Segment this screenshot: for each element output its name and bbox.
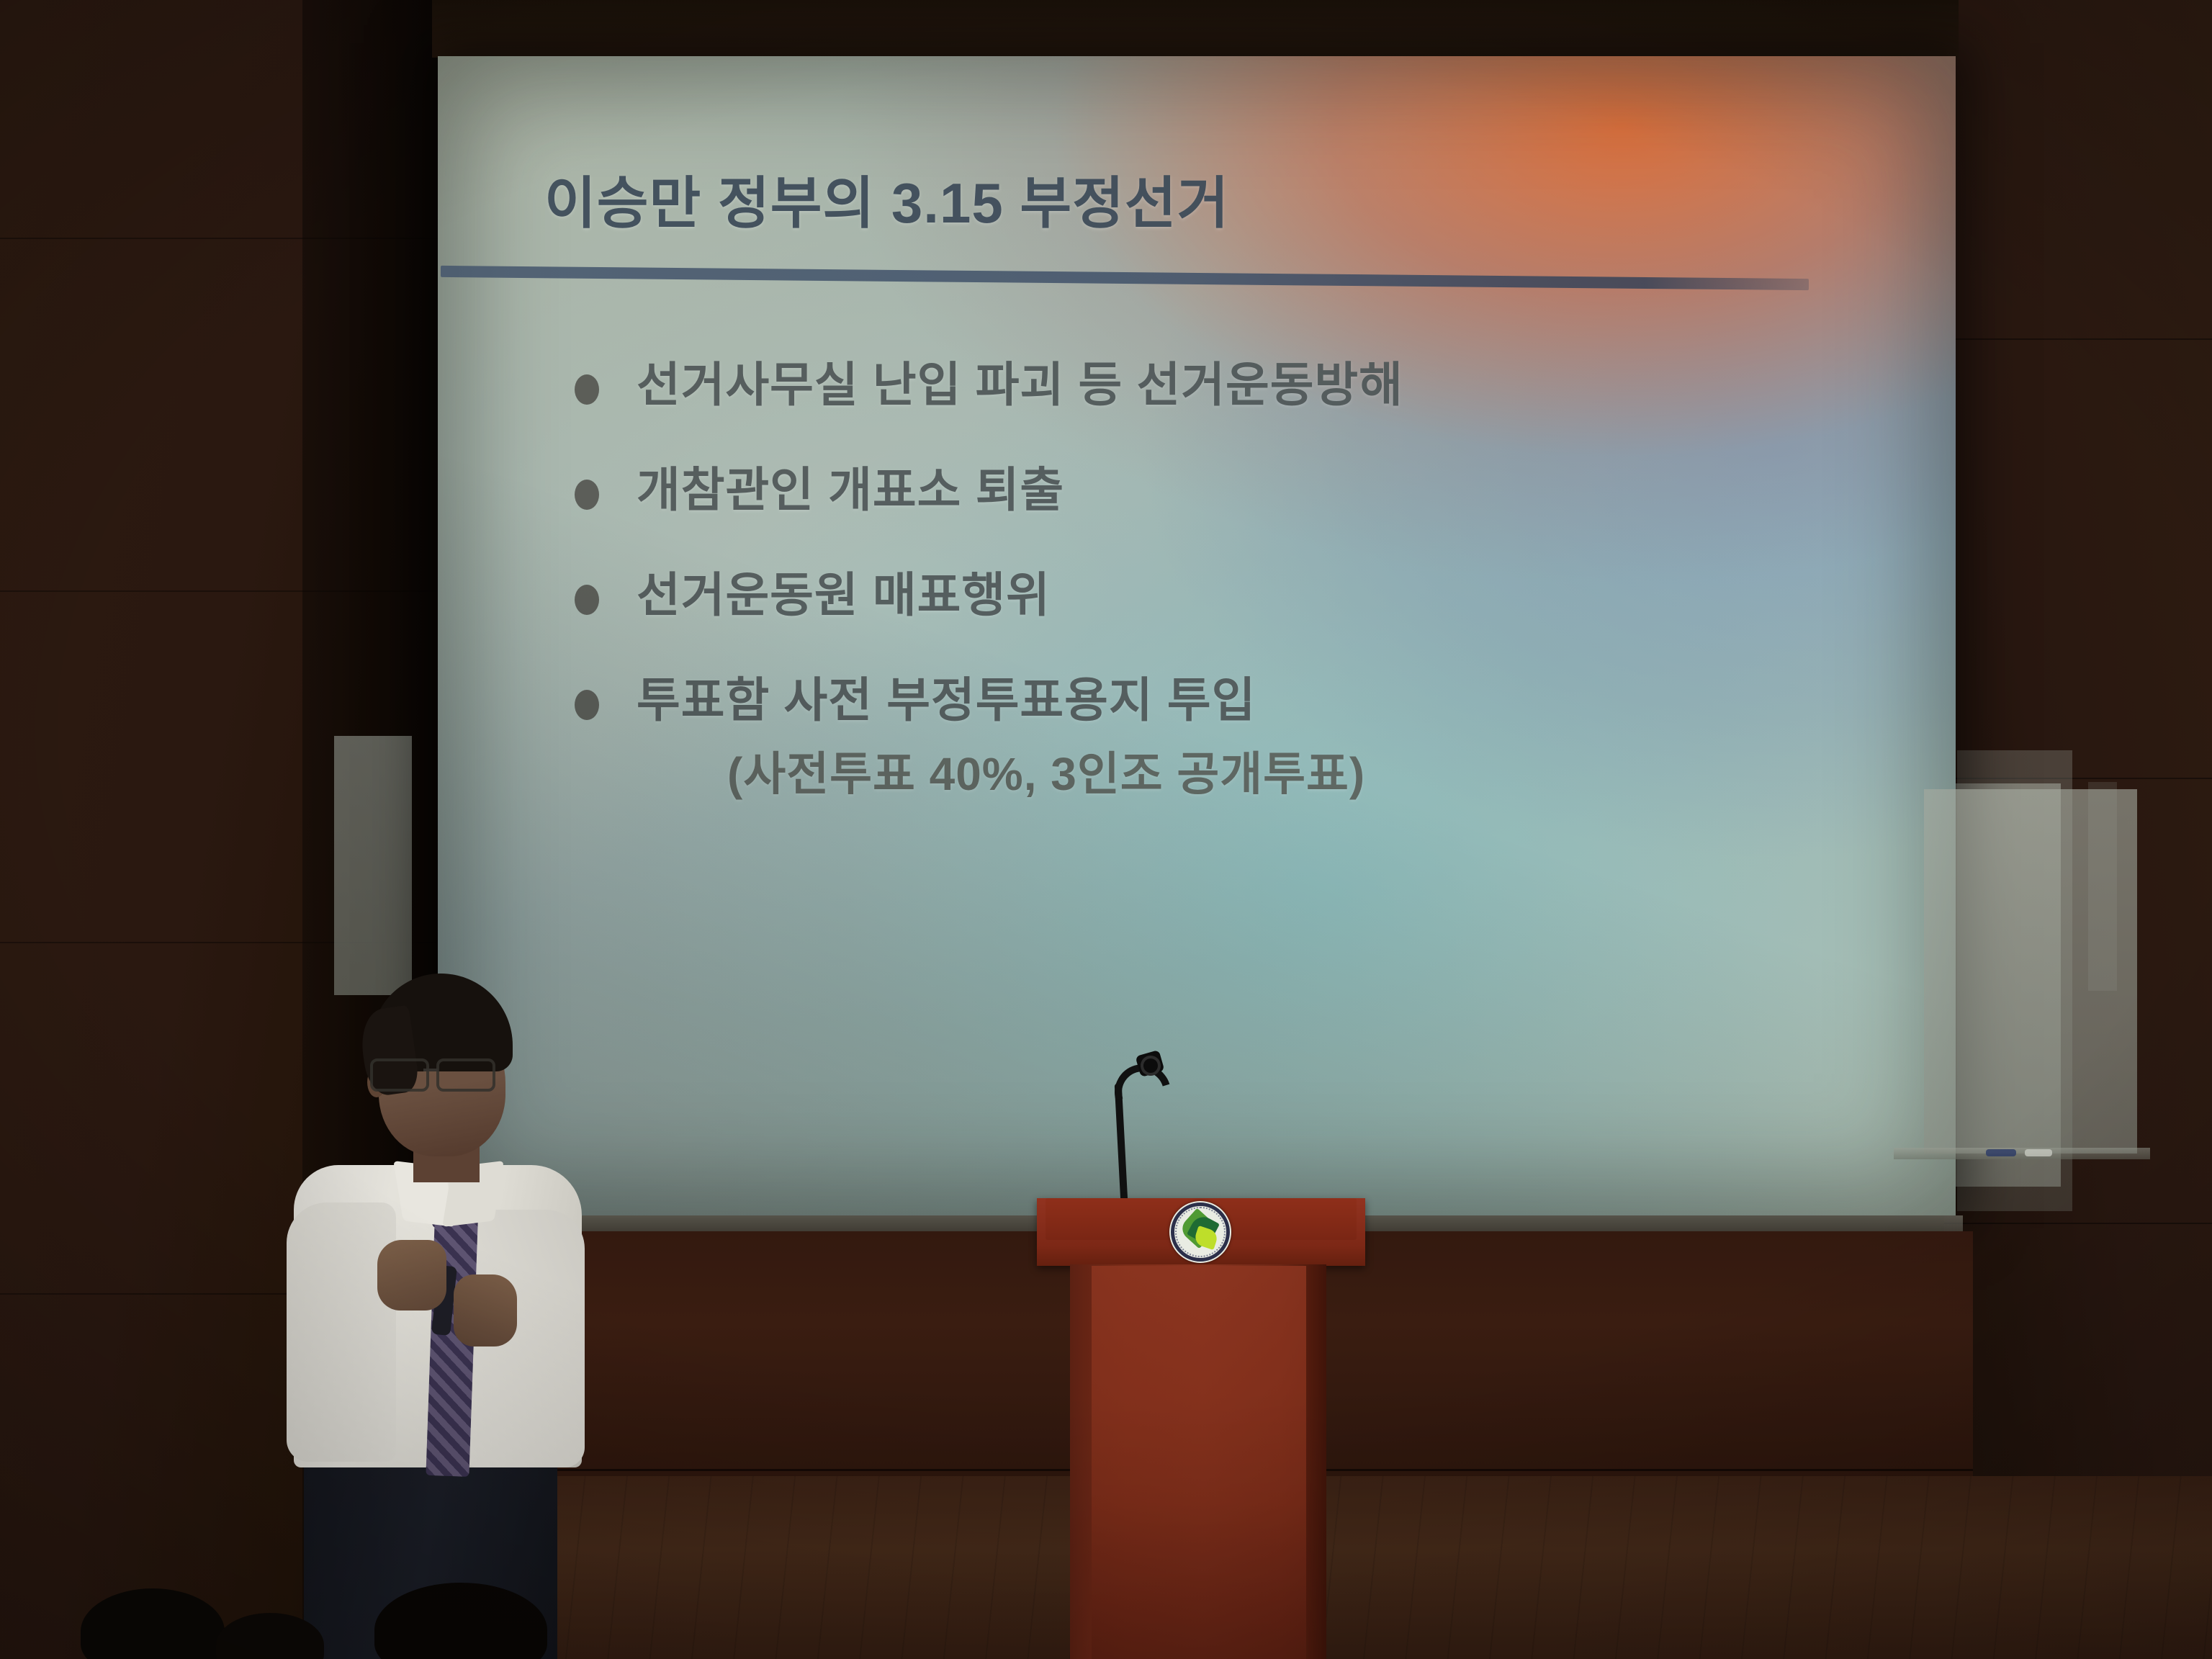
bullet-text: 개참관인 개표소 퇴출 [637,464,1064,517]
presentation-slide: 이승만 정부의 3.15 부정선거 선거사무실 난입 파괴 등 선거운동방해 개… [438,56,1956,1215]
podium-column-face [1092,1266,1306,1659]
whiteboard-marker-ledge [1894,1148,2150,1159]
bullet-subline: (사전투표 40%, 3인조 공개투표) [727,737,1365,804]
whiteboard-marker [1986,1149,2016,1156]
bullet-dot-icon [575,585,599,615]
whiteboard [1924,789,2137,1154]
presenter-glasses-icon [370,1058,511,1086]
projection-screen: 이승만 정부의 3.15 부정선거 선거사무실 난입 파괴 등 선거운동방해 개… [438,56,1956,1215]
list-item: 개참관인 개표소 퇴출 [546,464,1899,517]
presenter-left-arm [287,1202,396,1462]
glasses-lens-left [370,1058,429,1092]
bullet-dot-icon [575,690,599,720]
list-item: 선거운동원 매표행위 [546,569,1899,622]
whiteboard-marker [2025,1149,2052,1156]
ceiling-band [432,0,1959,58]
presenter-right-hand [454,1274,517,1346]
bullet-dot-icon [575,374,599,405]
lecture-hall-scene: 이승만 정부의 3.15 부정선거 선거사무실 난입 파괴 등 선거운동방해 개… [0,0,2212,1659]
slide-title: 이승만 정부의 3.15 부정선거 [544,158,1725,239]
bullet-text: 선거사무실 난입 파괴 등 선거운동방해 [637,359,1403,412]
bullet-text: 투표함 사전 부정투표용지 투입 [637,674,1365,727]
bullet-dot-icon [575,480,599,510]
list-item: 투표함 사전 부정투표용지 투입 (사전투표 40%, 3인조 공개투표) [546,674,1899,804]
institution-seal-icon [1169,1201,1231,1263]
glasses-bridge [423,1069,438,1071]
glasses-lens-right [436,1058,495,1092]
left-wall-panel [334,736,412,995]
bullet-text: 선거운동원 매표행위 [637,569,1051,622]
title-underline-rule [441,266,1809,290]
presenter-left-hand [377,1240,446,1310]
slide-bullet-list: 선거사무실 난입 파괴 등 선거운동방해 개참관인 개표소 퇴출 선거운동원 매… [546,359,1899,855]
list-item: 선거사무실 난입 파괴 등 선거운동방해 [546,359,1899,412]
